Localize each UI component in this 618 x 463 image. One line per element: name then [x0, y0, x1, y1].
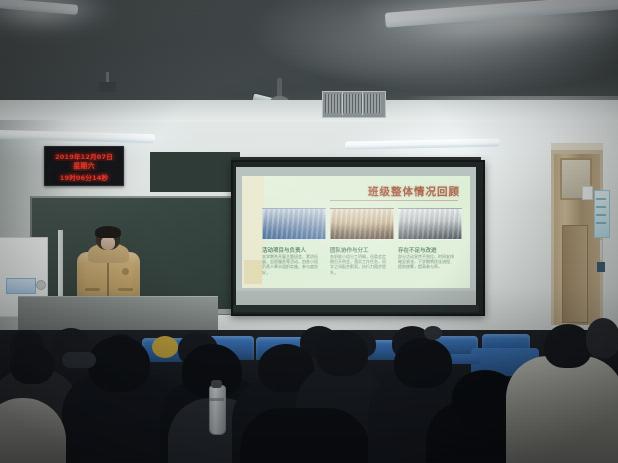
ceiling-projector-icon	[99, 82, 116, 92]
audience-head	[88, 336, 150, 392]
light-switch-panel[interactable]	[582, 186, 593, 200]
audience-shoulders	[506, 356, 618, 463]
cabinet-label-sticker	[6, 278, 36, 294]
notice-text-line-1	[596, 198, 606, 200]
audience-cap	[424, 326, 442, 340]
presenter-coat-emblem	[122, 268, 129, 275]
notice-text-line-3	[596, 214, 606, 216]
audience-shoulders	[240, 408, 370, 463]
projection-screen-lower-margin	[236, 291, 476, 305]
desk-arm-right[interactable]	[450, 354, 480, 364]
projector-light-bloom	[236, 167, 476, 305]
audience-head	[10, 344, 54, 384]
audience-head	[316, 330, 368, 376]
led-marquee-display: 2019年12月07日 星期六 19时06分14秒	[44, 146, 124, 186]
notice-text-line-2	[596, 206, 606, 208]
led-date-line: 2019年12月07日	[45, 151, 123, 161]
notice-text-line-4	[596, 222, 606, 224]
upper-chalkboard	[150, 152, 240, 192]
audience-head	[544, 324, 592, 368]
audience-cap	[62, 352, 96, 368]
wall-socket-icon	[597, 262, 605, 272]
audience-head	[586, 318, 618, 358]
door-panel	[562, 225, 588, 323]
presenter-coat-pocket-left	[85, 288, 100, 291]
notice-hanger-strip	[600, 240, 602, 260]
water-bottle-cap[interactable]	[211, 380, 222, 388]
water-bottle[interactable]	[209, 385, 226, 435]
presenter-face	[101, 236, 115, 250]
projection-screen-weight-bar	[233, 305, 479, 312]
presenter-hair	[95, 226, 121, 238]
led-time-line: 19时06分14秒	[45, 172, 123, 182]
audience-head	[394, 338, 452, 388]
led-weekday-line: 星期六	[45, 161, 123, 171]
classroom-photo: 2019年12月07日 星期六 19时06分14秒 班级整体情况回顾 活动项目与…	[0, 0, 618, 463]
hair-tie-accessory	[152, 336, 178, 358]
cabinet-dial-icon[interactable]	[36, 280, 46, 290]
water-bottle-ring	[209, 398, 224, 401]
presenter-coat-pocket-right	[118, 288, 133, 291]
